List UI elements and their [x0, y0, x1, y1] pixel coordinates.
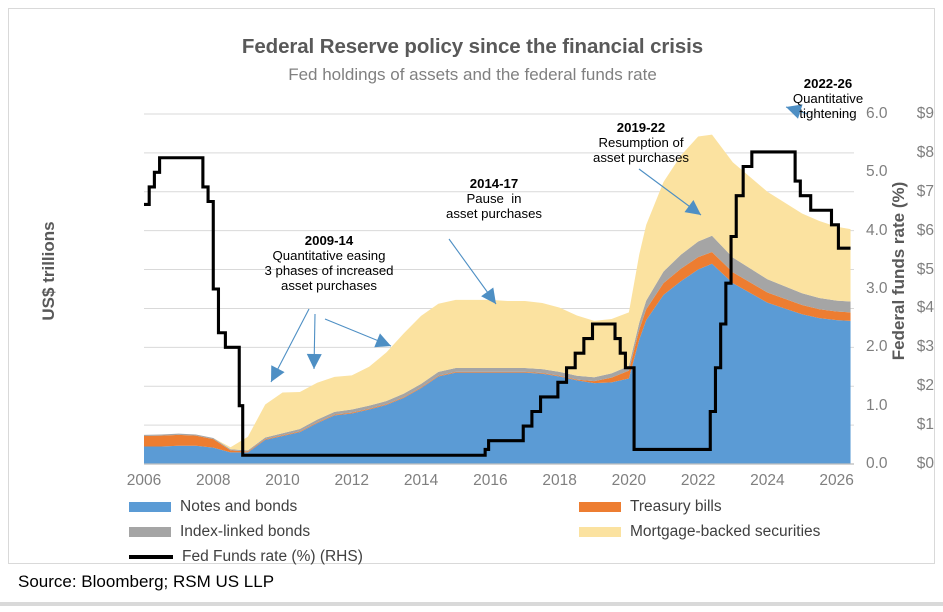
legend-label: Treasury bills [630, 498, 722, 516]
legend-label: Mortgage-backed securities [630, 523, 820, 541]
legend-label: Notes and bonds [180, 498, 297, 516]
legend-item-index-linked-bonds[interactable]: Index-linked bonds [129, 523, 310, 541]
source-note: Source: Bloomberg; RSM US LLP [18, 572, 274, 592]
legend-color-swatch [579, 502, 621, 512]
annotation-arrow [271, 309, 309, 382]
legend-item-notes-and-bonds[interactable]: Notes and bonds [129, 498, 297, 516]
chart-legend: Notes and bondsTreasury billsIndex-linke… [129, 498, 889, 570]
legend-color-swatch [129, 527, 171, 537]
annotation-line: 3 phases of increased [231, 264, 427, 279]
chart-page: Federal Reserve policy since the financi… [0, 0, 943, 612]
legend-color-swatch [129, 502, 171, 512]
legend-line-swatch [129, 555, 173, 559]
annotation-arrow [325, 319, 391, 347]
source-divider [0, 602, 943, 606]
annotation-heading: 2022-26 [733, 77, 923, 92]
legend-item-mortgage-backed-securities[interactable]: Mortgage-backed securities [579, 523, 820, 541]
annotation-arrow [449, 239, 496, 304]
annotation-arrow [307, 314, 322, 369]
annotation-resumption-2019-22: 2019-22Resumption ofasset purchases [546, 121, 736, 166]
annotation-heading: 2009-14 [231, 234, 427, 249]
chart-frame: Federal Reserve policy since the financi… [8, 8, 935, 564]
annotation-heading: 2014-17 [399, 177, 589, 192]
legend-label: Index-linked bonds [180, 523, 310, 541]
annotation-line: asset purchases [231, 279, 427, 294]
legend-color-swatch [579, 527, 621, 537]
legend-item-fed-funds-rate-rhs-[interactable]: Fed Funds rate (%) (RHS) [129, 548, 363, 566]
annotation-line: tightening [733, 107, 923, 122]
legend-label: Fed Funds rate (%) (RHS) [182, 548, 363, 566]
annotation-qe-2009-14: 2009-14Quantitative easing3 phases of in… [231, 234, 427, 294]
annotation-line: Pause in [399, 192, 589, 207]
annotation-line: Quantitative [733, 92, 923, 107]
annotation-heading: 2019-22 [546, 121, 736, 136]
annotation-line: asset purchases [546, 151, 736, 166]
annotation-qt-2022-26: 2022-26Quantitativetightening [733, 77, 923, 122]
annotation-line: Resumption of [546, 136, 736, 151]
legend-item-treasury-bills[interactable]: Treasury bills [579, 498, 722, 516]
annotation-pause-2014-17: 2014-17Pause inasset purchases [399, 177, 589, 222]
annotation-line: asset purchases [399, 207, 589, 222]
annotation-line: Quantitative easing [231, 249, 427, 264]
